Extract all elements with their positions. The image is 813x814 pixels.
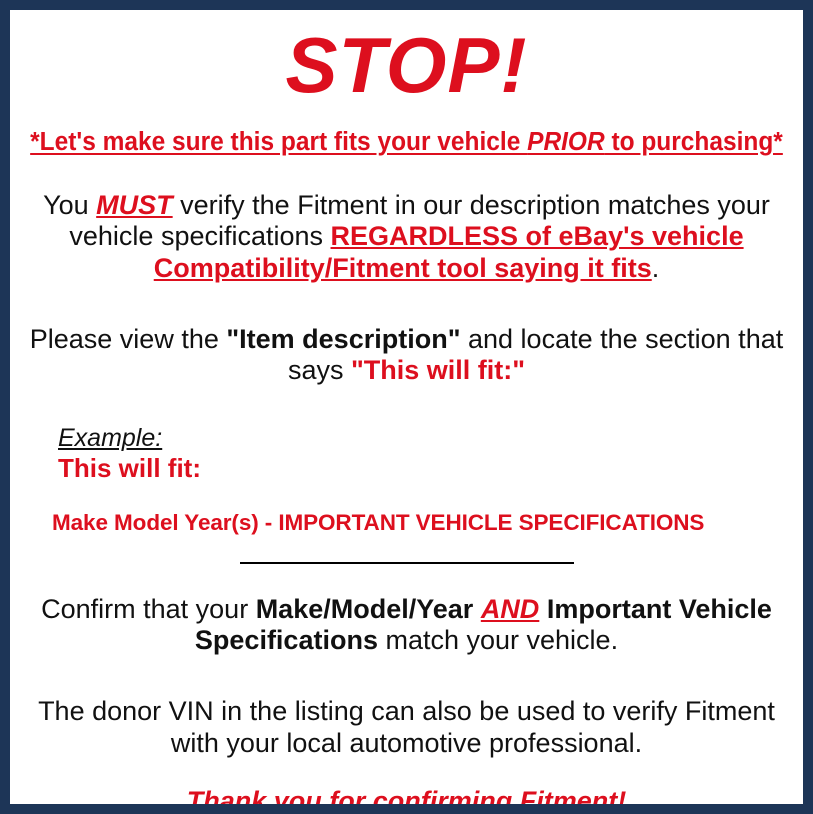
confirm-space-1 [473, 594, 481, 624]
item-description-emphasis: "Item description" [226, 324, 460, 354]
and-emphasis: AND [481, 594, 540, 624]
divider-rule [240, 562, 574, 564]
make-model-year-emphasis: Make/Model/Year [256, 594, 474, 624]
example-fit-line: This will fit: [58, 452, 803, 484]
page-title: STOP! [10, 10, 803, 104]
must-seg-period: . [652, 253, 660, 283]
paragraph-confirm-match: Confirm that your Make/Model/Year AND Im… [10, 564, 803, 657]
closing-thank-you: Thank you for confirming Fitment! [10, 759, 803, 814]
example-spec-line: Make Model Year(s) - IMPORTANT VEHICLE S… [52, 484, 803, 536]
paragraph-view-description: Please view the "Item description" and l… [10, 284, 803, 387]
notice-inner-surface: STOP! *Let's make sure this part fits yo… [10, 10, 803, 804]
view-seg-lead: Please view the [30, 324, 227, 354]
must-seg-lead: You [43, 190, 96, 220]
subheading-banner: *Let's make sure this part fits your veh… [26, 104, 787, 156]
subheading-suffix: to purchasing* [605, 128, 783, 156]
paragraph-donor-vin: The donor VIN in the listing can also be… [10, 656, 803, 759]
this-will-fit-quote: "This will fit:" [351, 355, 525, 385]
confirm-seg-lead: Confirm that your [41, 594, 256, 624]
divider [10, 536, 803, 564]
confirm-space-2 [539, 594, 547, 624]
paragraph-must-verify: You MUST verify the Fitment in our descr… [10, 156, 803, 284]
must-emphasis: MUST [96, 190, 173, 220]
subheading-prefix: *Let's make sure this part fits your veh… [30, 128, 527, 156]
example-label: Example: [58, 425, 803, 453]
subheading-emphasis-prior: PRIOR [527, 128, 605, 156]
fitment-notice-card: STOP! *Let's make sure this part fits yo… [0, 0, 813, 814]
confirm-seg-tail: match your vehicle. [378, 625, 618, 655]
example-block: Example: This will fit: Make Model Year(… [10, 387, 803, 536]
